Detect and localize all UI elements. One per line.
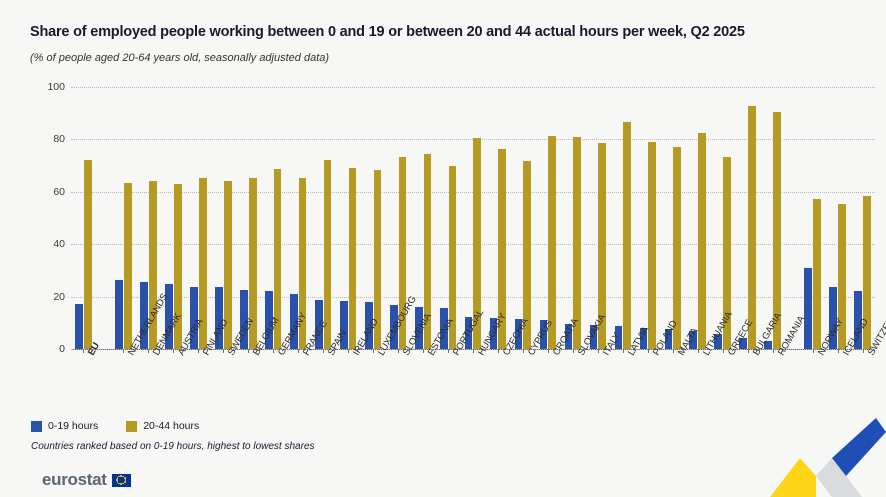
bar-group xyxy=(240,87,256,349)
plot-area xyxy=(71,87,875,349)
legend-note: Countries ranked based on 0-19 hours, hi… xyxy=(31,441,315,452)
bar xyxy=(124,183,132,349)
x-tick xyxy=(373,349,374,353)
x-tick xyxy=(813,349,814,353)
x-tick xyxy=(523,349,524,353)
bar xyxy=(673,147,681,349)
x-tick xyxy=(863,349,864,353)
flag-star xyxy=(120,483,122,485)
x-tick xyxy=(123,349,124,353)
bar-group xyxy=(739,87,755,349)
x-tick xyxy=(598,349,599,353)
x-tick xyxy=(573,349,574,353)
flag-star xyxy=(122,483,124,485)
x-tick xyxy=(223,349,224,353)
bar-group xyxy=(804,87,820,349)
x-tick xyxy=(648,349,649,353)
y-axis-tick-100: 100 xyxy=(31,81,65,93)
bar xyxy=(75,304,83,349)
flag-star xyxy=(118,476,120,478)
x-tick xyxy=(248,349,249,353)
y-axis-tick-60: 60 xyxy=(31,186,65,198)
x-tick xyxy=(448,349,449,353)
bar xyxy=(349,168,357,349)
x-tick xyxy=(348,349,349,353)
x-tick xyxy=(173,349,174,353)
bar-group xyxy=(75,87,91,349)
bar-group xyxy=(365,87,381,349)
eurostat-chevron-decoration xyxy=(770,418,886,497)
eurostat-wordmark: eurostat xyxy=(42,470,107,490)
bar-group xyxy=(490,87,506,349)
flag-star xyxy=(116,479,118,481)
bar xyxy=(84,160,92,349)
bar-group xyxy=(515,87,531,349)
x-tick xyxy=(673,349,674,353)
chart-container: Share of employed people working between… xyxy=(0,0,886,497)
bar-group xyxy=(165,87,181,349)
bar-group xyxy=(565,87,581,349)
legend-label: 20-44 hours xyxy=(143,420,199,432)
page-title: Share of employed people working between… xyxy=(30,24,860,41)
bar xyxy=(804,268,812,349)
eurostat-logo: eurostat xyxy=(42,470,131,490)
x-tick xyxy=(273,349,274,353)
legend-label: 0-19 hours xyxy=(48,420,98,432)
bar-group xyxy=(265,87,281,349)
x-tick xyxy=(623,349,624,353)
bar-group xyxy=(829,87,845,349)
bar-group xyxy=(315,87,331,349)
x-tick xyxy=(198,349,199,353)
x-tick xyxy=(498,349,499,353)
eu-flag-icon xyxy=(112,474,131,487)
y-axis-labels: 020406080100 xyxy=(31,87,65,349)
legend-swatch xyxy=(31,421,42,432)
y-axis-tick-20: 20 xyxy=(31,291,65,303)
bar-group xyxy=(215,87,231,349)
legend-swatch xyxy=(126,421,137,432)
bar-group xyxy=(764,87,780,349)
chart-subtitle: (% of people aged 20-64 years old, seaso… xyxy=(30,52,860,64)
y-axis-tick-80: 80 xyxy=(31,133,65,145)
x-tick xyxy=(698,349,699,353)
legend-item[interactable]: 0-19 hours xyxy=(31,420,98,432)
x-tick xyxy=(398,349,399,353)
chart-legend: 0-19 hours20-44 hours xyxy=(31,420,221,432)
x-tick xyxy=(723,349,724,353)
bar-group xyxy=(714,87,730,349)
bar-group xyxy=(689,87,705,349)
bar-group xyxy=(665,87,681,349)
x-tick xyxy=(838,349,839,353)
bar-group xyxy=(190,87,206,349)
x-tick xyxy=(773,349,774,353)
x-tick xyxy=(473,349,474,353)
bar-group xyxy=(640,87,656,349)
bar-group xyxy=(590,87,606,349)
flag-star xyxy=(124,481,126,483)
bar-group xyxy=(440,87,456,349)
bar-group xyxy=(290,87,306,349)
x-tick xyxy=(548,349,549,353)
bar xyxy=(623,122,631,349)
bar-group xyxy=(615,87,631,349)
bar xyxy=(748,106,756,349)
bar xyxy=(698,133,706,349)
x-tick xyxy=(298,349,299,353)
x-tick xyxy=(323,349,324,353)
x-tick xyxy=(148,349,149,353)
bar xyxy=(548,136,556,349)
bar-group xyxy=(115,87,131,349)
bar xyxy=(648,142,656,349)
bar xyxy=(115,280,123,349)
x-tick xyxy=(83,349,84,353)
bar xyxy=(813,199,821,349)
y-axis-tick-40: 40 xyxy=(31,238,65,250)
x-tick xyxy=(423,349,424,353)
bar-group xyxy=(540,87,556,349)
legend-item[interactable]: 20-44 hours xyxy=(126,420,199,432)
bar-group xyxy=(415,87,431,349)
x-tick xyxy=(748,349,749,353)
flag-star xyxy=(117,477,119,479)
bar-group xyxy=(340,87,356,349)
bar-group xyxy=(854,87,870,349)
y-axis-tick-0: 0 xyxy=(31,343,65,355)
